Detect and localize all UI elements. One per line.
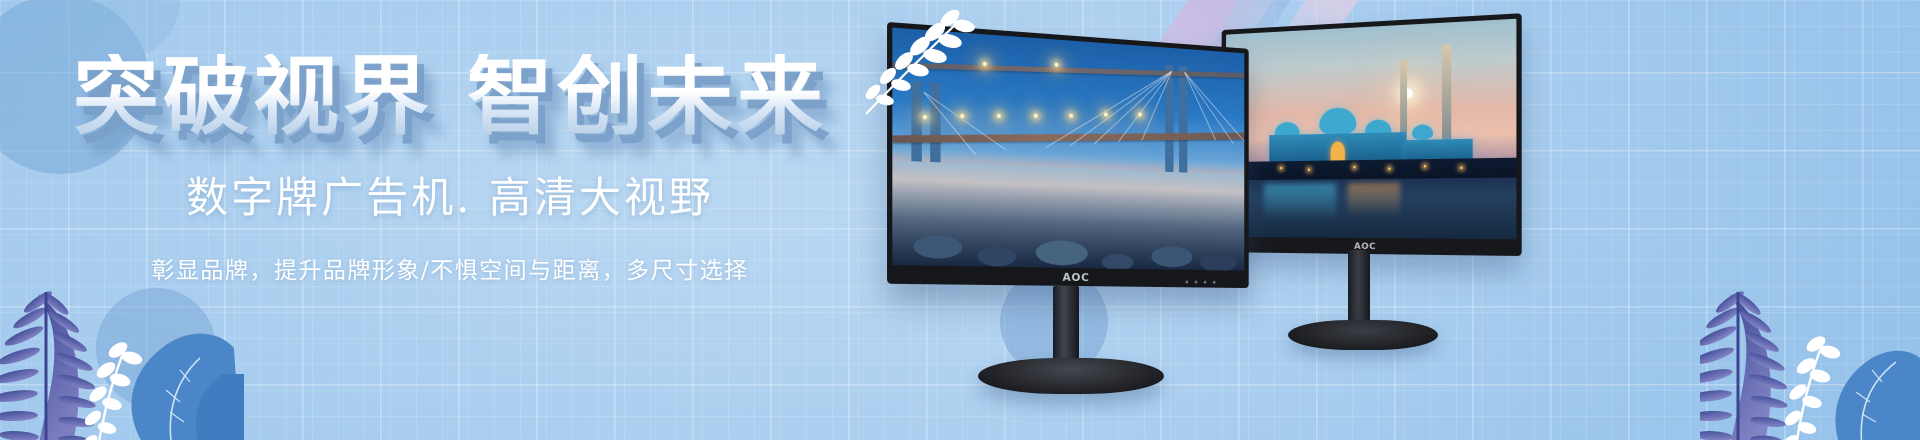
- headline: 突破视界 智创未来: [67, 54, 833, 142]
- decor-circle-bottom-left: [96, 288, 216, 408]
- city-light: [1424, 165, 1426, 167]
- blue-leaf-left: [131, 334, 244, 440]
- blue-leaf-right: [1835, 351, 1920, 440]
- monitor-back-stand-neck: [1348, 250, 1370, 328]
- city-light: [1280, 167, 1282, 169]
- brand-logo: AOC: [1062, 271, 1089, 284]
- monitor-back-stand-base: [1288, 320, 1438, 350]
- fern-leaf-left: [0, 288, 97, 440]
- city-light: [1308, 169, 1310, 171]
- fern-leaf-right: [1700, 288, 1789, 440]
- dome-center: [1319, 107, 1356, 135]
- monitor-front-panel: AOC: [887, 22, 1249, 288]
- white-sprig-right: [1780, 333, 1842, 440]
- white-sprig-left: [80, 339, 144, 440]
- promo-banner: 突破视界 智创未来 数字牌广告机. 高清大视野 彰显品牌，提升品牌形象/不惧空间…: [0, 0, 1920, 440]
- city-light: [1353, 166, 1355, 168]
- bridge-lamp-upper: [1055, 62, 1059, 66]
- product-group: AOC: [880, 0, 1620, 440]
- monitor-front-screen: [892, 28, 1244, 271]
- rocky-shore: [892, 180, 1244, 271]
- scene-bridge: [892, 28, 1244, 271]
- bridge-lamp: [923, 115, 927, 119]
- city-light: [1460, 167, 1462, 169]
- reflection-glow-cool: [1264, 183, 1336, 221]
- tagline: 彰显品牌，提升品牌形象/不惧空间与距离，多尺寸选择: [0, 251, 900, 285]
- city-light: [1388, 168, 1390, 170]
- monitor-front-stand-neck: [1053, 286, 1079, 368]
- monitor-front-stand-base: [978, 358, 1164, 394]
- bridge-lamp: [1033, 114, 1037, 118]
- bezel-ports: [1185, 281, 1215, 284]
- bridge-lamp: [1069, 113, 1073, 117]
- reflection-glow-warm: [1348, 183, 1400, 217]
- dome-far-right: [1412, 124, 1433, 140]
- monitor-front: AOC: [890, 36, 1270, 386]
- subheadline: 数字牌广告机. 高清大视野: [0, 164, 900, 225]
- botanical-cluster-right: [1700, 206, 1920, 440]
- text-block: 突破视界 智创未来 数字牌广告机. 高清大视野 彰显品牌，提升品牌形象/不惧空间…: [0, 54, 900, 285]
